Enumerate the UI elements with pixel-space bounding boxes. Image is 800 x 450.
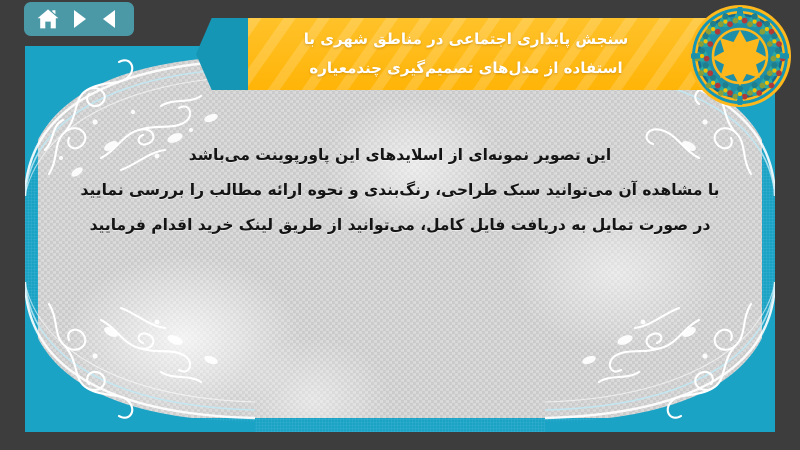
triangle-left-icon bbox=[98, 7, 122, 31]
next-slide-button[interactable] bbox=[67, 7, 91, 31]
persian-medallion-icon bbox=[688, 4, 792, 108]
slide-body-text: این تصویر نمونه‌ای از اسلایدهای این پاور… bbox=[25, 138, 775, 243]
page-title: سنجش پایداری اجتماعی در مناطق شهری با bbox=[304, 26, 629, 53]
home-icon bbox=[36, 7, 60, 31]
triangle-right-icon bbox=[67, 7, 91, 31]
banner-tab-arrow bbox=[196, 18, 252, 90]
slide-frame: این تصویر نمونه‌ای از اسلایدهای این پاور… bbox=[25, 46, 775, 432]
slide-viewer: این تصویر نمونه‌ای از اسلایدهای این پاور… bbox=[0, 0, 800, 450]
slide-title-banner: سنجش پایداری اجتماعی در مناطق شهری با اس… bbox=[196, 18, 800, 90]
body-line: با مشاهده آن می‌توانید سبک طراحی، رنگ‌بن… bbox=[51, 173, 749, 208]
body-line: این تصویر نمونه‌ای از اسلایدهای این پاور… bbox=[51, 138, 749, 173]
previous-slide-button[interactable] bbox=[98, 7, 122, 31]
banner-title-bar: سنجش پایداری اجتماعی در مناطق شهری با اس… bbox=[248, 18, 724, 90]
viewer-toolbar bbox=[24, 2, 134, 36]
page-subtitle: استفاده از مدل‌های تصمیم‌گیری چندمعیاره bbox=[309, 55, 622, 82]
body-line: در صورت تمایل به دریافت فایل کامل، می‌تو… bbox=[51, 208, 749, 243]
home-button[interactable] bbox=[36, 7, 60, 31]
